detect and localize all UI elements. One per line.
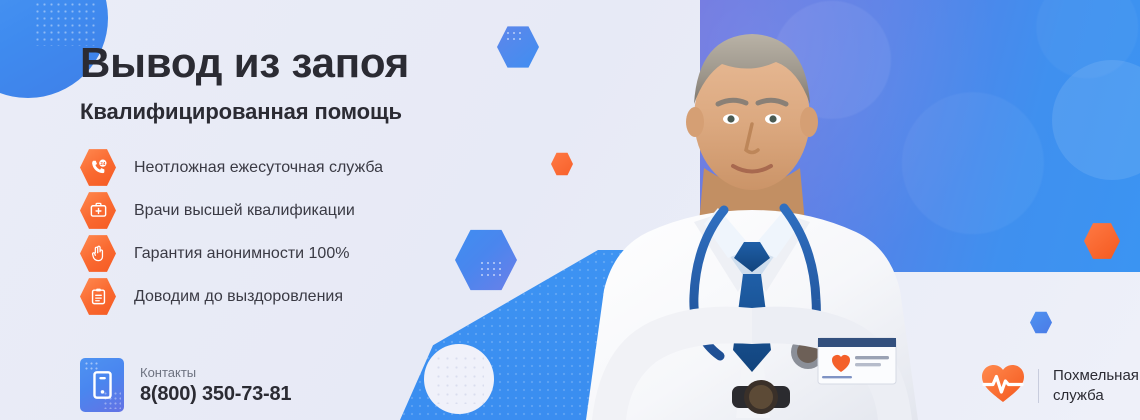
medical-bag-icon (80, 191, 116, 230)
feature-list: 24 Неотложная ежесуточная служба Врачи в… (80, 146, 383, 318)
feature-label: Неотложная ежесуточная служба (134, 159, 383, 177)
contacts-text: Контакты 8(800) 350-73-81 (140, 365, 291, 406)
contacts-phone-number[interactable]: 8(800) 350-73-81 (140, 383, 291, 406)
page-subtitle: Квалифицированная помощь (80, 99, 402, 125)
background-pale-circle (424, 344, 494, 414)
brand-name: Похмельная служба (1053, 366, 1139, 404)
secrecy-hand-icon (80, 234, 116, 273)
feature-item-qualified-doctors: Врачи высшей квалификации (80, 189, 383, 232)
feature-label: Гарантия анонимности 100% (134, 245, 349, 263)
feature-item-emergency-service: 24 Неотложная ежесуточная служба (80, 146, 383, 189)
brand-divider (1038, 369, 1039, 403)
heart-pulse-icon (980, 362, 1026, 409)
clipboard-checklist-icon (80, 277, 116, 316)
feature-item-recovery: Доводим до выздоровления (80, 275, 383, 318)
feature-label: Доводим до выздоровления (134, 288, 343, 306)
doctor-portrait-image (556, 0, 948, 420)
promo-banner: Вывод из запоя Квалифицированная помощь … (0, 0, 1140, 420)
mobile-phone-icon (80, 358, 124, 412)
contacts-caption: Контакты (140, 365, 291, 380)
phone-24h-icon: 24 (80, 148, 116, 187)
brand-logo[interactable]: Похмельная служба (980, 362, 1139, 409)
contacts-block[interactable]: Контакты 8(800) 350-73-81 (80, 358, 291, 412)
page-title: Вывод из запоя (80, 39, 409, 87)
svg-text:24: 24 (100, 161, 105, 166)
feature-item-anonymity: Гарантия анонимности 100% (80, 232, 383, 275)
feature-label: Врачи высшей квалификации (134, 202, 355, 220)
